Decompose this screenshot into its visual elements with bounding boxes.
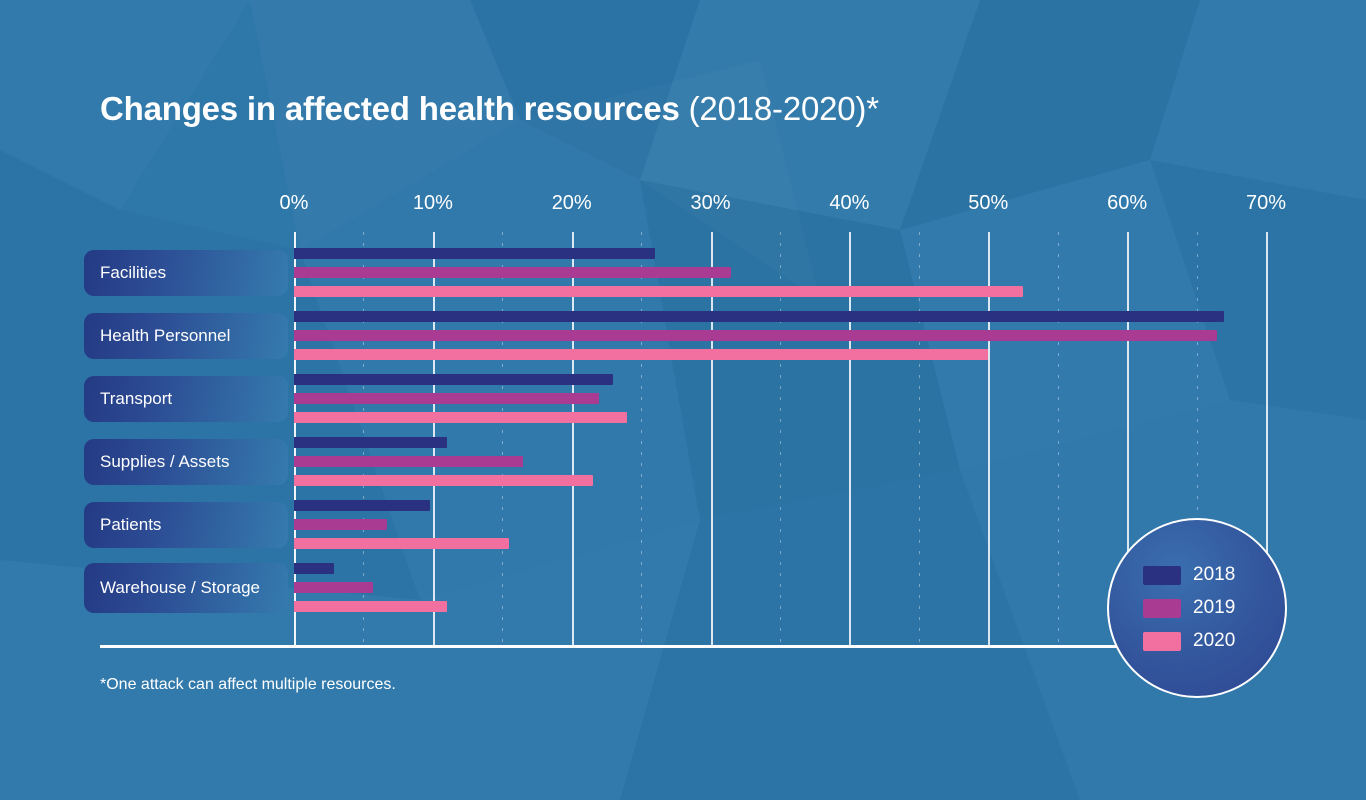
chart-row: Health Personnel	[294, 311, 1266, 363]
legend-label-2018: 2018	[1193, 564, 1235, 586]
legend-swatch-2018	[1143, 566, 1181, 585]
chart-legend: 201820192020	[1107, 518, 1287, 698]
x-tick-label: 30%	[691, 192, 731, 215]
bar-2019-warehouse-storage	[294, 582, 373, 593]
chart-row: Facilities	[294, 248, 1266, 300]
bar-2020-transport	[294, 412, 627, 423]
chart-row: Supplies / Assets	[294, 437, 1266, 489]
chart-title: Changes in affected health resources (20…	[100, 90, 879, 128]
bar-2020-patients	[294, 538, 509, 549]
chart-row: Patients	[294, 500, 1266, 552]
bar-2018-facilities	[294, 248, 655, 259]
bar-2019-facilities	[294, 267, 731, 278]
chart-title-years: (2018-2020)*	[689, 90, 879, 127]
bar-2020-warehouse-storage	[294, 601, 447, 612]
category-label-patients: Patients	[84, 502, 288, 548]
bar-2018-transport	[294, 374, 613, 385]
bar-2020-facilities	[294, 286, 1023, 297]
bar-2018-patients	[294, 500, 430, 511]
chart-row: Transport	[294, 374, 1266, 426]
x-tick-label: 0%	[280, 192, 309, 215]
legend-item-2020: 2020	[1143, 630, 1285, 652]
bar-2018-warehouse-storage	[294, 563, 334, 574]
chart-title-main: Changes in affected health resources	[100, 90, 689, 127]
x-tick-label: 20%	[552, 192, 592, 215]
category-label-facilities: Facilities	[84, 250, 288, 296]
category-label-warehouse-storage: Warehouse / Storage	[84, 563, 288, 613]
bar-2020-supplies-assets	[294, 475, 593, 486]
x-axis-line	[100, 645, 1172, 648]
bar-2018-health-personnel	[294, 311, 1224, 322]
bar-2019-health-personnel	[294, 330, 1217, 341]
legend-item-2019: 2019	[1143, 597, 1285, 619]
bar-2018-supplies-assets	[294, 437, 447, 448]
category-label-transport: Transport	[84, 376, 288, 422]
legend-swatch-2019	[1143, 599, 1181, 618]
category-label-supplies-assets: Supplies / Assets	[84, 439, 288, 485]
category-label-health-personnel: Health Personnel	[84, 313, 288, 359]
legend-item-2018: 2018	[1143, 564, 1285, 586]
bar-2020-health-personnel	[294, 349, 988, 360]
x-tick-label: 40%	[829, 192, 869, 215]
x-tick-label: 50%	[968, 192, 1008, 215]
bar-2019-supplies-assets	[294, 456, 523, 467]
legend-label-2019: 2019	[1193, 597, 1235, 619]
x-tick-label: 60%	[1107, 192, 1147, 215]
legend-label-2020: 2020	[1193, 630, 1235, 652]
bar-2019-transport	[294, 393, 599, 404]
chart-footnote: *One attack can affect multiple resource…	[100, 676, 396, 694]
x-tick-label: 10%	[413, 192, 453, 215]
x-tick-label: 70%	[1246, 192, 1286, 215]
infographic-canvas: Changes in affected health resources (20…	[0, 0, 1366, 800]
bar-2019-patients	[294, 519, 387, 530]
legend-swatch-2020	[1143, 632, 1181, 651]
